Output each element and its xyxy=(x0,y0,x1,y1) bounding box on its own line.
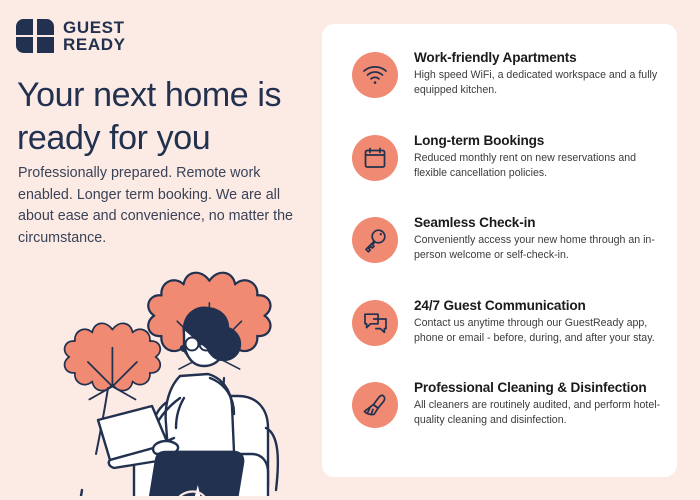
feature-title: Seamless Check-in xyxy=(414,215,663,230)
hero-column: GUEST READY Your next home is ready for … xyxy=(0,0,322,500)
feature-description: Reduced monthly rent on new reservations… xyxy=(414,151,663,181)
feature-title: Work-friendly Apartments xyxy=(414,50,663,65)
feature-item-professional-cleaning[interactable]: Professional Cleaning & Disinfection All… xyxy=(352,376,663,459)
features-card: Work-friendly Apartments High speed WiFi… xyxy=(322,24,677,477)
brand-line-1: GUEST xyxy=(63,19,126,36)
feature-item-guest-communication[interactable]: 24/7 Guest Communication Contact us anyt… xyxy=(352,294,663,377)
hero-illustration xyxy=(34,228,314,496)
feature-item-seamless-check-in[interactable]: Seamless Check-in Conveniently access yo… xyxy=(352,211,663,294)
feature-title: Professional Cleaning & Disinfection xyxy=(414,380,663,395)
feature-description: All cleaners are routinely audited, and … xyxy=(414,398,663,428)
wifi-icon xyxy=(352,52,398,98)
calendar-icon xyxy=(352,135,398,181)
page-title: Your next home is ready for you xyxy=(17,74,309,160)
feature-description: Contact us anytime through our GuestRead… xyxy=(414,316,663,346)
feature-text: Seamless Check-in Conveniently access yo… xyxy=(414,211,663,263)
feature-text: Work-friendly Apartments High speed WiFi… xyxy=(414,46,663,98)
guestready-quadrant-logo-icon xyxy=(16,18,54,54)
brand-line-2: READY xyxy=(63,36,126,53)
broom-icon xyxy=(352,382,398,428)
key-icon xyxy=(352,217,398,263)
brand-wordmark: GUEST READY xyxy=(63,19,126,53)
feature-description: Conveniently access your new home throug… xyxy=(414,233,663,263)
feature-item-long-term-bookings[interactable]: Long-term Bookings Reduced monthly rent … xyxy=(352,129,663,212)
feature-item-work-friendly-apartments[interactable]: Work-friendly Apartments High speed WiFi… xyxy=(352,46,663,129)
chat-bubbles-icon xyxy=(352,300,398,346)
feature-text: 24/7 Guest Communication Contact us anyt… xyxy=(414,294,663,346)
feature-text: Long-term Bookings Reduced monthly rent … xyxy=(414,129,663,181)
feature-text: Professional Cleaning & Disinfection All… xyxy=(414,376,663,428)
promo-page: GUEST READY Your next home is ready for … xyxy=(0,0,700,500)
feature-title: Long-term Bookings xyxy=(414,133,663,148)
feature-description: High speed WiFi, a dedicated workspace a… xyxy=(414,68,663,98)
feature-list: Work-friendly Apartments High speed WiFi… xyxy=(352,46,663,459)
brand-logo[interactable]: GUEST READY xyxy=(16,18,126,54)
feature-title: 24/7 Guest Communication xyxy=(414,298,663,313)
